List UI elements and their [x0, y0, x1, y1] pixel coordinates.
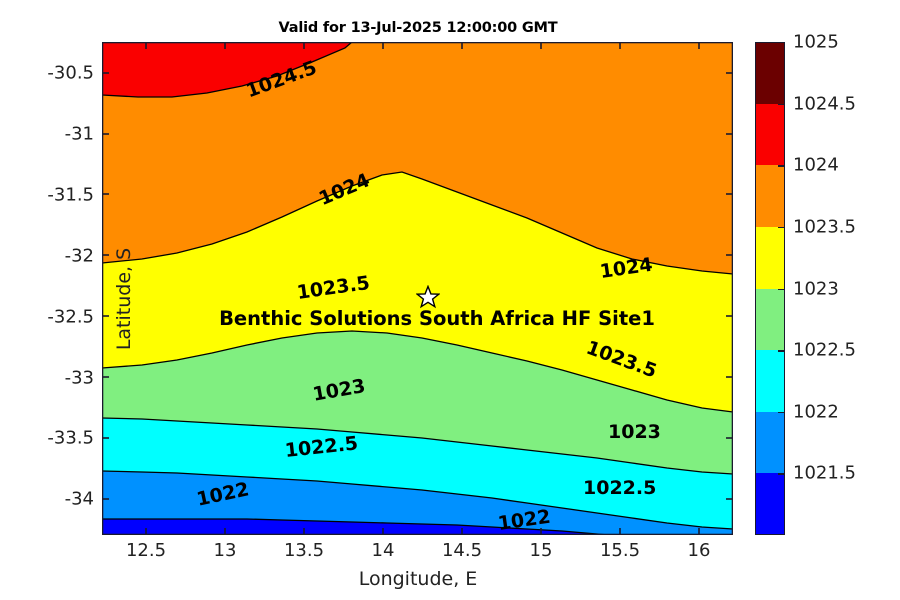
colorbar-tick-label: 1024.5: [793, 93, 856, 114]
colorbar-tick-mark: [778, 412, 785, 414]
x-axis-tick-label: 15: [506, 540, 576, 561]
colorbar-segment: [755, 412, 785, 474]
star-marker-icon: [416, 285, 440, 309]
x-axis-tick-label: 12.5: [111, 540, 181, 561]
y-axis-tick-label: -30.5: [4, 63, 94, 84]
colorbar-tick-label: 1022: [793, 401, 839, 422]
y-axis-tick-label: -32.5: [4, 306, 94, 327]
colorbar-segment: [755, 165, 785, 227]
colorbar-tick-mark: [778, 104, 785, 106]
x-axis-tick-label: 13: [190, 540, 260, 561]
colorbar-tick-mark: [778, 473, 785, 475]
colorbar-segment: [755, 42, 785, 104]
contour-label: 1023: [608, 421, 661, 443]
colorbar-tick-label: 1023: [793, 278, 839, 299]
y-axis-tick-label: -31: [4, 123, 94, 144]
colorbar-segment: [755, 350, 785, 412]
colorbar-tick-mark: [778, 227, 785, 229]
colorbar-tick-mark: [778, 165, 785, 167]
y-axis-tick-label: -31.5: [4, 184, 94, 205]
contour-label: 1022.5: [583, 477, 656, 499]
colorbar-segment: [755, 227, 785, 289]
x-axis-tick-label: 13.5: [269, 540, 339, 561]
colorbar-segment: [755, 104, 785, 166]
y-axis-tick-label: -33: [4, 367, 94, 388]
y-axis-ticks: -30.5-31-31.5-32-32.5-33-33.5-34: [0, 0, 94, 600]
colorbar-tick-label: 1025: [793, 32, 839, 53]
colorbar-tick-label: 1023.5: [793, 216, 856, 237]
colorbar-tick-mark: [778, 350, 785, 352]
x-axis-tick-label: 14: [348, 540, 418, 561]
y-axis-tick-label: -34: [4, 489, 94, 510]
colorbar-tick-mark: [778, 289, 785, 291]
site-label: Benthic Solutions South Africa HF Site1: [219, 307, 655, 330]
y-axis-tick-label: -33.5: [4, 428, 94, 449]
y-axis-tick-label: -32: [4, 245, 94, 266]
x-axis-tick-label: 14.5: [427, 540, 497, 561]
colorbar-segment: [755, 473, 785, 535]
plot-title: Valid for 13-Jul-2025 12:00:00 GMT: [102, 20, 734, 36]
y-axis-label: Latitude, S: [113, 169, 135, 429]
x-axis-tick-label: 15.5: [585, 540, 655, 561]
colorbar-tick-label: 1022.5: [793, 340, 856, 361]
colorbar-segment: [755, 289, 785, 351]
x-axis-label: Longitude, E: [102, 568, 734, 590]
x-axis-tick-label: 16: [664, 540, 734, 561]
colorbar-tick-label: 1021.5: [793, 463, 856, 484]
colorbar-tick-label: 1024: [793, 155, 839, 176]
contour-plot-figure: Valid for 13-Jul-2025 12:00:00 GMT: [0, 0, 900, 600]
